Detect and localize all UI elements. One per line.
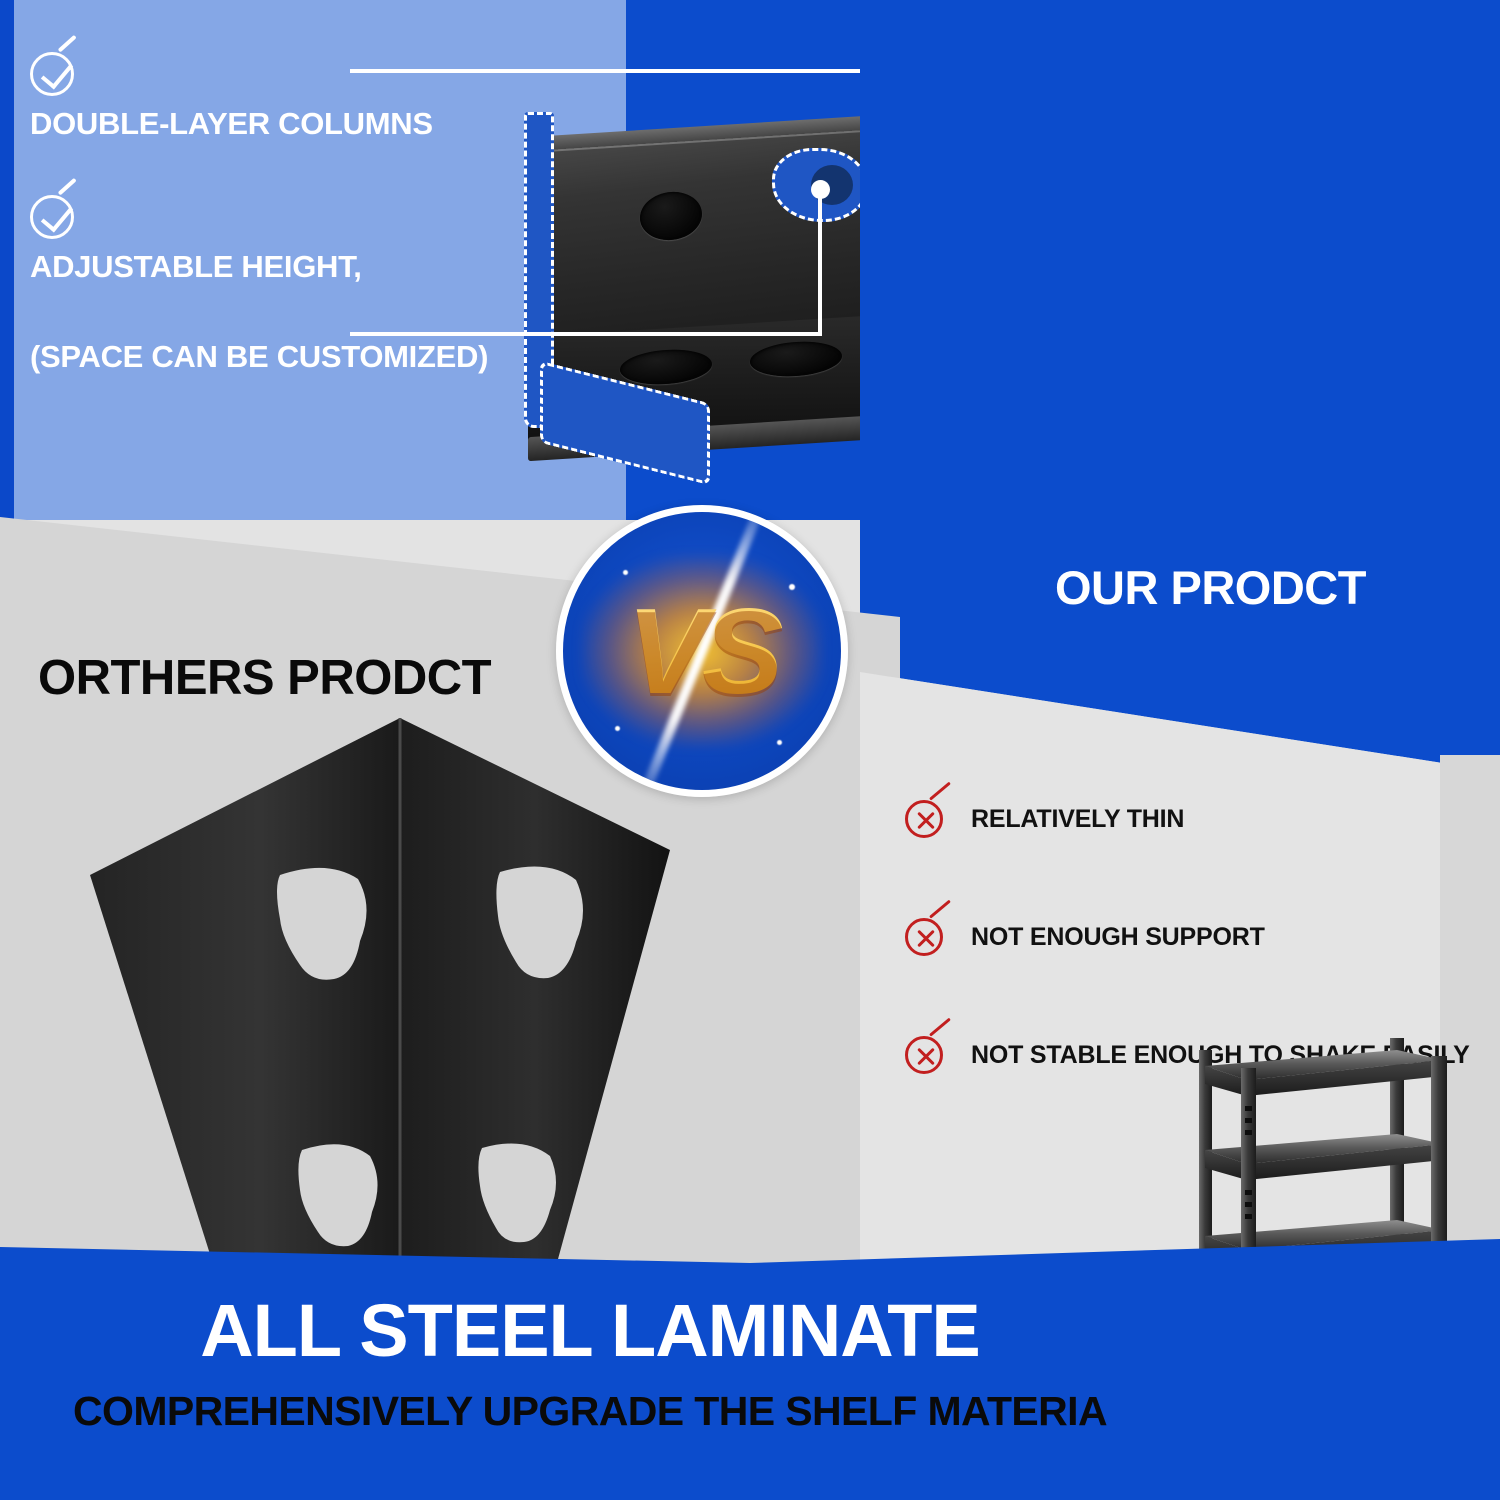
callout-dot-bottom bbox=[811, 180, 830, 199]
feature-list: DOUBLE-LAYER COLUMNS ADJUSTABLE HEIGHT, … bbox=[30, 52, 590, 429]
others-product-heading: ORTHERS PRODCT bbox=[38, 650, 491, 706]
feature-item-double-layer: DOUBLE-LAYER COLUMNS bbox=[30, 52, 590, 141]
left-edge-blue-strip bbox=[0, 0, 14, 520]
x-circle-icon bbox=[905, 918, 943, 956]
feature-label: ADJUSTABLE HEIGHT, bbox=[30, 251, 590, 284]
callout-line-bottom-vertical bbox=[818, 190, 822, 336]
feature-sub-label: (SPACE CAN BE CUSTOMIZED) bbox=[30, 339, 590, 375]
our-product-blue-panel bbox=[860, 0, 1500, 790]
versus-badge: VS bbox=[556, 505, 848, 797]
check-circle-icon bbox=[30, 195, 74, 239]
infographic-canvas: DOUBLE-LAYER COLUMNS ADJUSTABLE HEIGHT, … bbox=[0, 0, 1500, 1500]
banner-title: ALL STEEL LAMINATE bbox=[0, 1288, 1180, 1373]
x-circle-icon bbox=[905, 800, 943, 838]
con-label: NOT ENOUGH SUPPORT bbox=[971, 923, 1265, 952]
versus-label: VS bbox=[563, 512, 841, 790]
check-circle-icon bbox=[30, 52, 74, 96]
con-label: RELATIVELY THIN bbox=[971, 805, 1184, 834]
con-item-not-enough-support: NOT ENOUGH SUPPORT bbox=[905, 918, 1465, 956]
x-circle-icon bbox=[905, 1036, 943, 1074]
feature-item-adjustable-height: ADJUSTABLE HEIGHT, (SPACE CAN BE CUSTOMI… bbox=[30, 195, 590, 376]
banner-subtitle: COMPREHENSIVELY UPGRADE THE SHELF MATERI… bbox=[0, 1388, 1180, 1435]
feature-label: DOUBLE-LAYER COLUMNS bbox=[30, 108, 590, 141]
our-product-heading: OUR PRODCT bbox=[1055, 560, 1366, 615]
con-item-relatively-thin: RELATIVELY THIN bbox=[905, 800, 1465, 838]
